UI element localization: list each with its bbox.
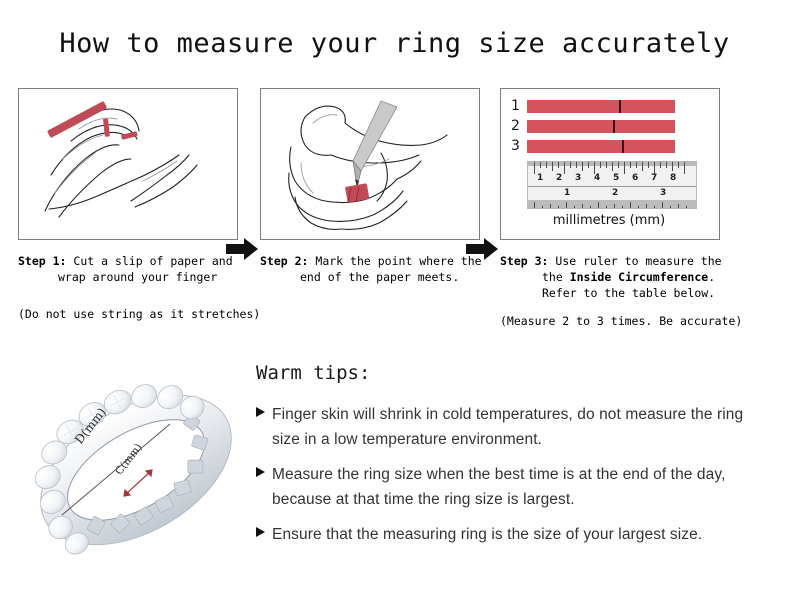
list-item: Finger skin will shrink in cold temperat… [256, 402, 766, 452]
step-1-caption: Step 1: Cut a slip of paper and wrap aro… [18, 253, 240, 285]
ruler-metric-label: 3 [575, 174, 581, 183]
list-item: Ensure that the measuring ring is the si… [256, 522, 766, 547]
step-3-line2: the Inside Circumference. [500, 269, 722, 285]
step-3-line1: Use ruler to measure the [555, 254, 721, 268]
ruler-metric-label: 8 [670, 174, 676, 183]
list-item: Measure the ring size when the best time… [256, 462, 766, 512]
step-2-column: Step 2: Mark the point where the end of … [260, 88, 482, 285]
ruler-metric-label: 4 [594, 174, 600, 183]
ruler-metric-scale: 1 2 3 4 5 6 7 8 [528, 162, 696, 186]
step-1-line1: Cut a slip of paper and [73, 254, 232, 268]
strip-row: 1 [511, 98, 711, 114]
step-3-column: 1 2 3 [500, 88, 722, 329]
warm-tips-block: Warm tips: Finger skin will shrink in co… [256, 362, 766, 557]
ruler-graphic: 1 2 3 4 5 6 7 8 [527, 161, 697, 209]
step-3-line2-post: . [708, 270, 715, 284]
ruler-imperial-label: 2 [612, 189, 618, 198]
strip-row: 2 [511, 118, 711, 134]
steps-row: Step 1: Cut a slip of paper and wrap aro… [0, 88, 789, 338]
strip-bar [527, 140, 675, 153]
step-3-lead: Step 3: [500, 254, 548, 268]
warm-tips-heading: Warm tips: [256, 362, 766, 384]
strip-number: 3 [511, 139, 527, 153]
ruler-imperial-scale: 1 2 3 [528, 186, 696, 209]
ruler-unit-caption: millimetres (mm) [501, 213, 717, 228]
ruler-metric-label: 6 [632, 174, 638, 183]
step-2-line2: end of the paper meets. [260, 269, 482, 285]
hand-with-paper-slip-illustration [19, 89, 237, 239]
strip-mark-tick [619, 100, 621, 113]
triangle-bullet-icon [256, 462, 272, 477]
page-title: How to measure your ring size accurately [0, 28, 789, 59]
ruler-metric-label: 1 [537, 174, 543, 183]
ring-diagram [20, 352, 252, 582]
step-2-illustration-panel [260, 88, 480, 240]
step-1-illustration-panel [18, 88, 238, 240]
step-3-note: (Measure 2 to 3 times. Be accurate) [500, 314, 722, 329]
ruler-metric-label: 2 [556, 174, 562, 183]
step-2-lead: Step 2: [260, 254, 308, 268]
step-3-line3: Refer to the table below. [500, 285, 722, 301]
hand-marking-paper-illustration [261, 89, 479, 239]
inside-circumference-emphasis: Inside Circumference [570, 270, 708, 284]
strip-mark-tick [622, 140, 624, 153]
ruler-metric-label: 7 [651, 174, 657, 183]
strip-row: 3 [511, 138, 711, 154]
step-2-line1: Mark the point where the [315, 254, 481, 268]
warm-tip-text: Measure the ring size when the best time… [272, 462, 766, 512]
step-1-column: Step 1: Cut a slip of paper and wrap aro… [18, 88, 240, 322]
step-3-caption: Step 3: Use ruler to measure the the Ins… [500, 253, 722, 301]
ruler-imperial-label: 3 [660, 189, 666, 198]
red-paper-band [345, 183, 369, 203]
triangle-bullet-icon [256, 522, 272, 537]
warm-tip-text: Ensure that the measuring ring is the si… [272, 522, 702, 547]
strip-number: 2 [511, 119, 527, 133]
step-1-lead: Step 1: [18, 254, 66, 268]
warm-tip-text: Finger skin will shrink in cold temperat… [272, 402, 766, 452]
triangle-bullet-icon [256, 402, 272, 417]
strip-number: 1 [511, 99, 527, 113]
strip-bar [527, 120, 675, 133]
step-3-line2-pre: the [542, 270, 570, 284]
step-3-measure-panel: 1 2 3 [500, 88, 720, 240]
strip-mark-tick [613, 120, 615, 133]
diamond-ring-photo [20, 352, 252, 582]
strip-bar [527, 100, 675, 113]
ruler-metric-label: 5 [613, 174, 619, 183]
measured-strips-group: 1 2 3 [511, 98, 711, 158]
step-2-caption: Step 2: Mark the point where the end of … [260, 253, 482, 285]
ruler-imperial-label: 1 [564, 189, 570, 198]
step-1-line2: wrap around your finger [18, 269, 240, 285]
step-1-note: (Do not use string as it stretches) [18, 307, 240, 322]
